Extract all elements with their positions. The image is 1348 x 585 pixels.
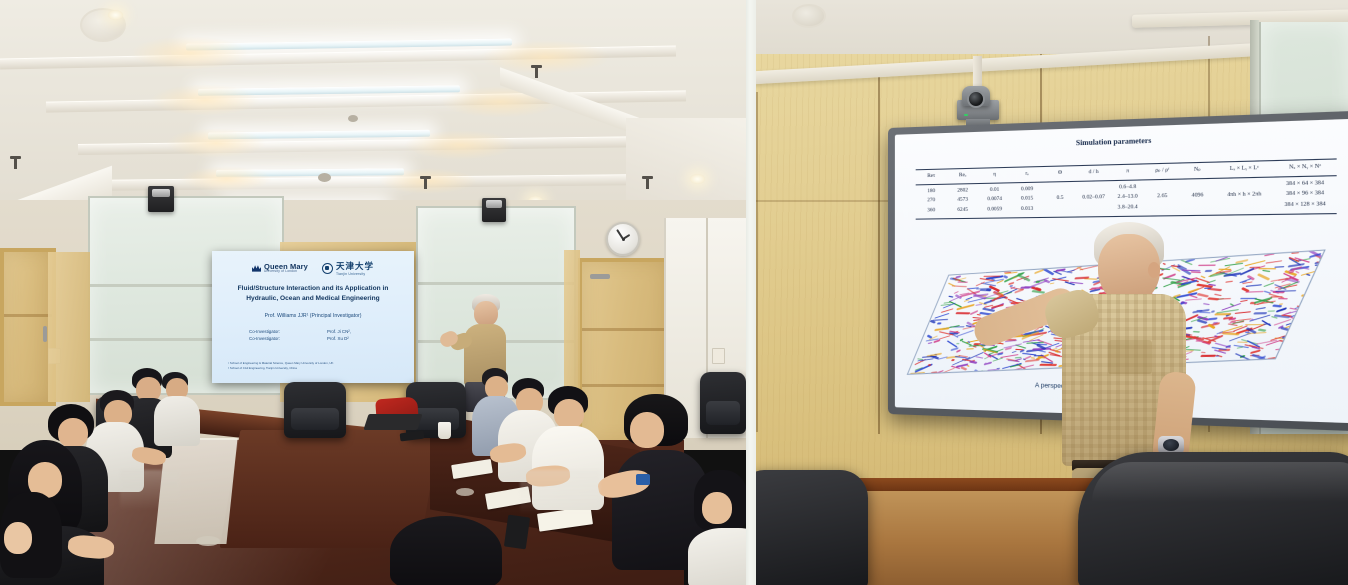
tianjin-university-logo: 天津大学 Tianjin University	[322, 260, 374, 276]
wall-seam	[878, 74, 880, 434]
slide-footnotes: ¹ School of Engineering & Material Scien…	[228, 361, 402, 371]
shirt-pocket	[1108, 340, 1152, 374]
tju-seal-icon	[322, 263, 333, 274]
coinvestigator-row: Co-Investigator: Prof. Ji CN²,	[240, 328, 394, 336]
table-grommet	[456, 488, 474, 496]
slide-title-line1: Fluid/Structure Interaction and its Appl…	[224, 284, 402, 294]
tju-name-en: Tianjin University	[336, 272, 374, 276]
sprinkler-icon	[646, 178, 649, 189]
panel-divider	[746, 0, 756, 585]
audience-member	[154, 372, 206, 452]
right-photo-panel: Simulation parameters Reτ Reₒ η rₑ Θ d /…	[756, 0, 1348, 585]
camera-led-icon	[964, 114, 968, 116]
coinvestigator-list: Co-Investigator: Prof. Ji CN², Co-Invest…	[240, 328, 394, 343]
crown-icon	[252, 265, 261, 272]
slide-title-line2: Hydraulic, Ocean and Medical Engineering	[224, 294, 402, 304]
table-reflection	[520, 470, 600, 514]
title-slide: Queen Mary University of London 天津大学 Tia…	[212, 251, 414, 383]
smoke-detector-icon	[318, 173, 331, 182]
audience-member	[688, 470, 746, 585]
audience-member	[0, 492, 96, 585]
sprinkler-icon	[14, 158, 17, 169]
sprinkler-icon	[535, 67, 538, 78]
downlight-icon	[690, 174, 705, 184]
simulation-parameter-table: Reτ Reₒ η rₑ Θ d / h π ρₚ / ρᶠ Nₚ Lₓ × L…	[916, 156, 1337, 222]
chair-highlight	[1092, 462, 1348, 502]
projection-screen: Queen Mary University of London 天津大学 Tia…	[212, 251, 414, 383]
wall-switch-icon[interactable]	[712, 348, 725, 364]
audience-member	[380, 516, 530, 585]
coinvestigator-row: Co-Investigator: Prof. Xu D²	[240, 335, 394, 343]
wall-wood-panel	[48, 252, 90, 402]
smoke-detector-icon	[348, 115, 358, 122]
principal-investigator: Prof. Williams JJR¹ (Principal Investiga…	[224, 313, 402, 319]
wall-speaker-icon	[482, 198, 506, 222]
queen-mary-logo: Queen Mary University of London	[252, 263, 308, 274]
table-reflection	[120, 470, 180, 510]
laptop[interactable]	[363, 414, 422, 430]
chair[interactable]	[756, 470, 868, 585]
wall-speaker-icon	[148, 186, 174, 212]
footnote-2: ² School of Civil Engineering, Tianjin U…	[228, 366, 402, 371]
paper-cup	[438, 422, 451, 439]
door-handle-icon[interactable]	[43, 326, 47, 342]
slide-logo-row: Queen Mary University of London 天津大学 Tia…	[224, 258, 402, 279]
ceiling-vent-icon	[792, 4, 826, 28]
tju-name-cn: 天津大学	[336, 260, 374, 272]
table-grommet	[196, 536, 220, 546]
smartwatch-icon	[636, 474, 650, 485]
downlight-icon	[108, 10, 123, 20]
door-handle-icon[interactable]	[590, 274, 610, 279]
left-photo-panel: Queen Mary University of London 天津大学 Tia…	[0, 0, 746, 585]
wall-clock	[606, 222, 640, 256]
camera-lens-icon	[967, 90, 985, 108]
photo-composite: Queen Mary University of London 天津大学 Tia…	[0, 0, 1348, 585]
simulation-title: Simulation parameters	[895, 129, 1348, 152]
chair[interactable]	[284, 382, 346, 438]
slide-title: Fluid/Structure Interaction and its Appl…	[224, 284, 402, 303]
ceiling	[0, 0, 746, 215]
sprinkler-icon	[424, 178, 427, 189]
